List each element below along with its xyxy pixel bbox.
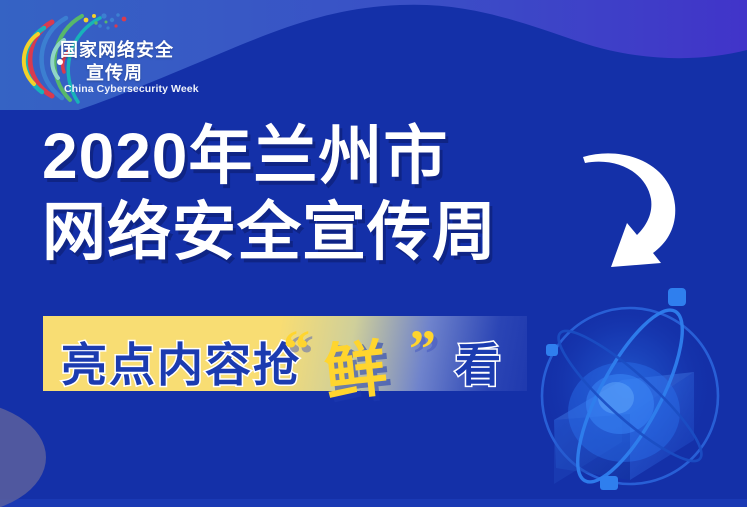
banner-text-part2: 看	[455, 329, 503, 395]
logo-title-cn-line2: 宣传周	[86, 59, 143, 85]
banner-highlight-char: 鲜	[319, 317, 390, 413]
banner-quote-open: “	[283, 318, 310, 380]
banner-text-part1: 亮点内容抢	[61, 329, 301, 395]
banner-quote-close: ”	[409, 318, 436, 380]
cube-orbit-graphic	[512, 272, 747, 507]
headline-block: 2020年兰州市 网络安全宣传周	[42, 118, 497, 270]
highlight-banner: 亮点内容抢 “ 鲜 ” 看	[43, 316, 527, 391]
headline-line-1: 2020年兰州市	[42, 118, 497, 194]
poster-canvas: 国家网络安全 宣传周 China Cybersecurity Week 2020…	[0, 0, 747, 507]
china-cybersecurity-week-logo: 国家网络安全 宣传周 China Cybersecurity Week	[8, 6, 188, 106]
curved-arrow-icon	[575, 135, 695, 275]
logo-title-en: China Cybersecurity Week	[64, 83, 199, 95]
headline-line-2: 网络安全宣传周	[42, 194, 497, 270]
